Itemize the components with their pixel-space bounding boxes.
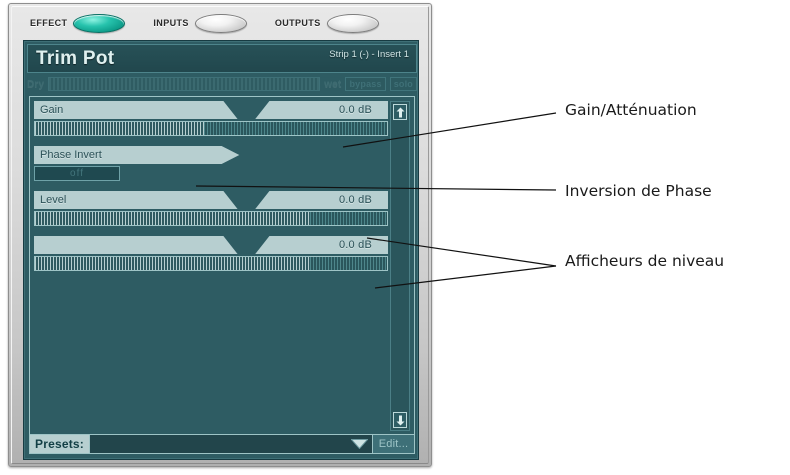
control-level-secondary-meter-fill: [35, 257, 310, 270]
control-gain-meter-fill: [35, 122, 204, 135]
control-level-meter-fill: [35, 212, 310, 225]
tab-effect-label: EFFECT: [30, 18, 67, 28]
tab-outputs-label: OUTPUTS: [275, 18, 321, 28]
controls-frame: Gain 0.0 dB Phase Invert off: [29, 96, 415, 436]
wet-label: wet: [324, 79, 341, 90]
control-level-secondary[interactable]: 0.0 dB: [34, 236, 388, 271]
presets-bar: Presets: Edit...: [29, 434, 415, 454]
presets-edit-button[interactable]: Edit...: [373, 434, 415, 454]
control-gain-value: 0.0 dB: [339, 104, 382, 116]
control-level-label: Level: [40, 194, 66, 206]
control-level-value: 0.0 dB: [339, 194, 382, 206]
presets-label: Presets:: [29, 434, 89, 454]
tab-inputs-label: INPUTS: [153, 18, 188, 28]
tab-outputs[interactable]: OUTPUTS: [275, 14, 379, 33]
mix-row: Dry wet bypass solo: [27, 75, 417, 93]
controls-list: Gain 0.0 dB Phase Invert off: [34, 101, 388, 271]
control-level-secondary-meter-track: [310, 257, 387, 270]
arrow-up-icon[interactable]: [393, 104, 407, 120]
dry-wet-slider[interactable]: [48, 77, 320, 91]
control-gain[interactable]: Gain 0.0 dB: [34, 101, 388, 136]
control-level-secondary-value: 0.0 dB: [339, 239, 382, 251]
page-title: Trim Pot: [36, 49, 114, 68]
plugin-window: EFFECT INPUTS OUTPUTS Trim Pot Strip 1 (…: [8, 3, 432, 467]
control-level-secondary-head[interactable]: 0.0 dB: [34, 236, 388, 254]
inputs-lamp-icon[interactable]: [195, 14, 247, 33]
plugin-toolbar: EFFECT INPUTS OUTPUTS: [13, 8, 427, 38]
control-level[interactable]: Level 0.0 dB: [34, 191, 388, 226]
tab-inputs[interactable]: INPUTS: [153, 14, 246, 33]
control-level-head[interactable]: Level 0.0 dB: [34, 191, 388, 209]
annotation-phase: Inversion de Phase: [565, 182, 712, 200]
control-phase-invert[interactable]: Phase Invert off: [34, 146, 388, 181]
plugin-panel: Trim Pot Strip 1 (-) - Insert 1 Dry wet …: [23, 40, 419, 460]
annotation-gain: Gain/Atténuation: [565, 101, 697, 119]
control-phase-invert-value-box[interactable]: off: [34, 166, 120, 181]
control-phase-invert-head[interactable]: Phase Invert: [34, 146, 388, 164]
dry-label: Dry: [27, 79, 44, 90]
bypass-button[interactable]: bypass: [345, 77, 385, 91]
control-gain-head[interactable]: Gain 0.0 dB: [34, 101, 388, 119]
control-gain-meter-track: [204, 122, 387, 135]
scrollbar[interactable]: [390, 101, 410, 431]
outputs-lamp-icon[interactable]: [327, 14, 379, 33]
control-level-meter-track: [310, 212, 387, 225]
control-phase-invert-value: off: [70, 168, 84, 179]
control-phase-invert-label: Phase Invert: [40, 149, 102, 161]
effect-lamp-icon[interactable]: [73, 14, 125, 33]
control-gain-meter[interactable]: [34, 121, 388, 136]
control-gain-label: Gain: [40, 104, 63, 116]
control-level-meter[interactable]: [34, 211, 388, 226]
chevron-down-icon: [351, 439, 368, 449]
arrow-down-icon[interactable]: [393, 412, 407, 428]
solo-button[interactable]: solo: [390, 77, 417, 91]
tab-effect[interactable]: EFFECT: [30, 14, 125, 33]
plugin-location-label: Strip 1 (-) - Insert 1: [329, 49, 409, 60]
annotation-levels: Afficheurs de niveau: [565, 252, 724, 270]
presets-dropdown[interactable]: [89, 434, 373, 454]
control-level-secondary-meter[interactable]: [34, 256, 388, 271]
plugin-header: Trim Pot Strip 1 (-) - Insert 1: [27, 44, 417, 73]
